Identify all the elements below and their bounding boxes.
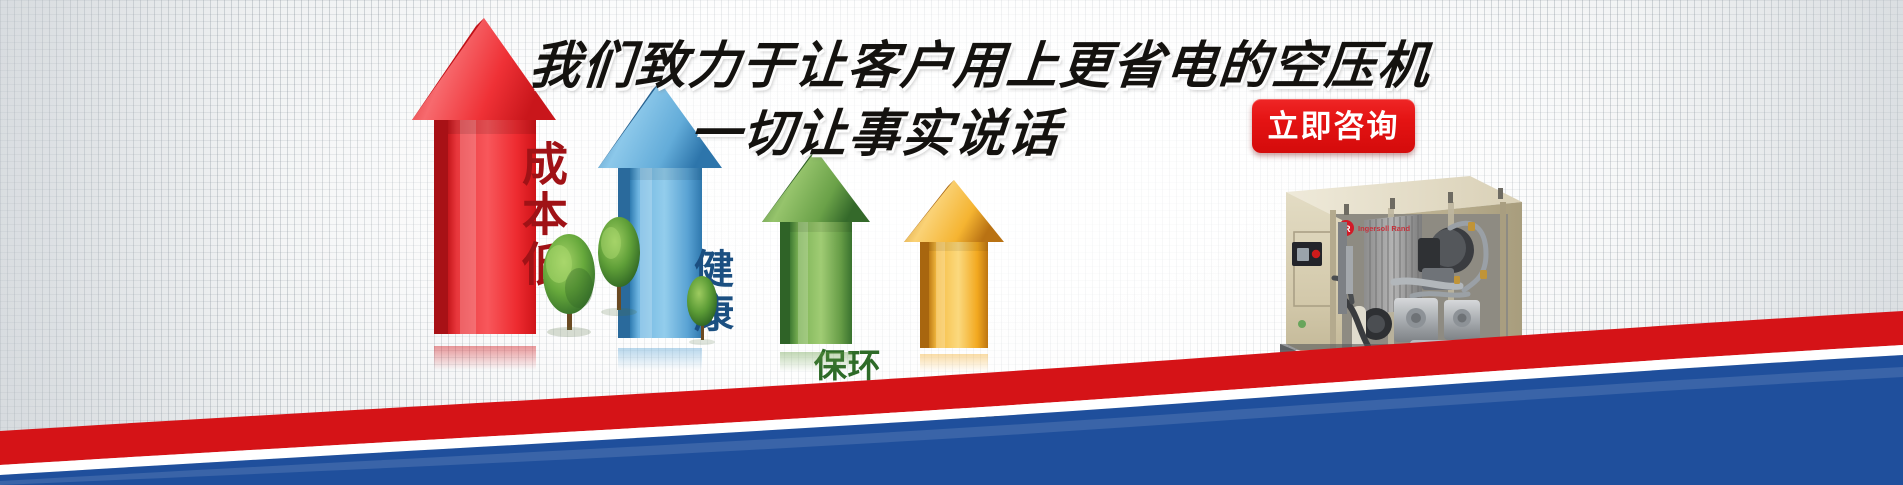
promo-banner: 成本低 — [0, 0, 1903, 485]
consult-now-button[interactable]: 立即咨询 — [1252, 99, 1415, 153]
consult-now-button-label: 立即咨询 — [1268, 111, 1400, 142]
svg-text:Ingersoll Rand: Ingersoll Rand — [1358, 224, 1411, 233]
bottom-wave-decoration — [0, 285, 1903, 485]
